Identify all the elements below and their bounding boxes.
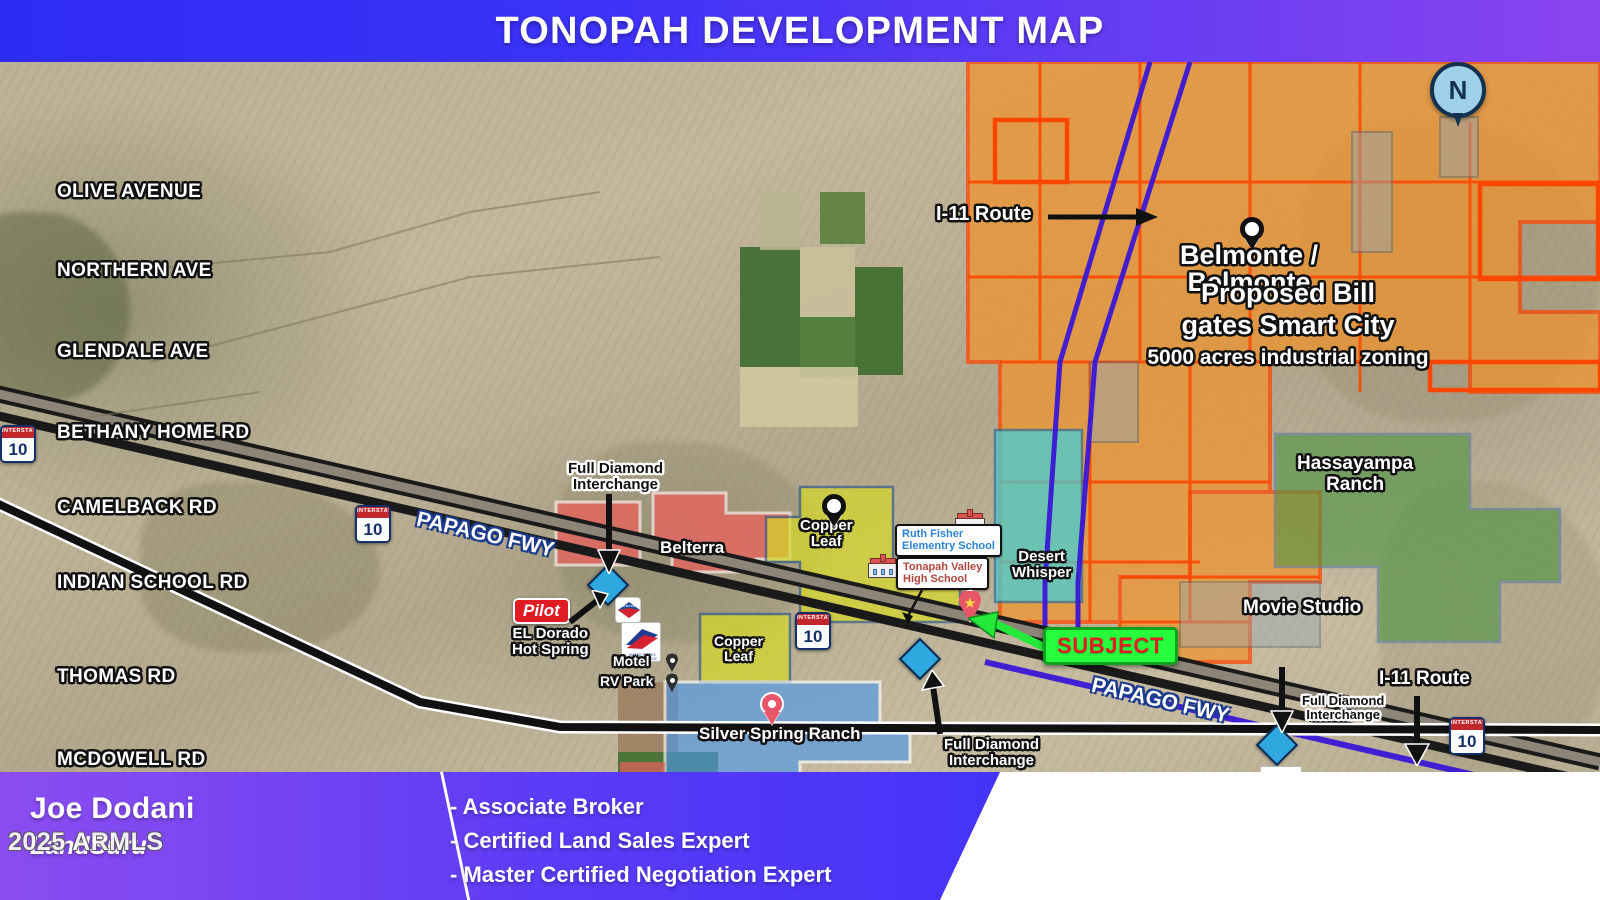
annotation-el-dorado-hot-spring: EL Dorado Hot Spring [512, 626, 589, 658]
logo-pilot: Pilot [513, 598, 570, 624]
arrow-subject [968, 610, 1053, 658]
parcel-label-belterra: Belterra [660, 539, 724, 557]
shield-interstate-text: INTERSTATE [1451, 720, 1483, 726]
vegetation-patch [1300, 122, 1600, 422]
farm-field [855, 267, 903, 375]
agent-name-block: Joe Dodani LandSuru [30, 792, 390, 861]
street-label: GLENDALE AVE [57, 342, 209, 363]
farm-field [820, 192, 865, 244]
smart-city-line1: Proposed Bill [1108, 279, 1468, 308]
page-header: TONOPAH DEVELOPMENT MAP [0, 0, 1600, 62]
tonopah-development-map-page: TONOPAH DEVELOPMENT MAP [0, 0, 1600, 900]
arrow-i11-top [1048, 205, 1158, 229]
poi-label-motel: Motel [613, 654, 650, 669]
street-label: NORTHERN AVE [57, 261, 212, 282]
arrow-full-diamond-right [1268, 667, 1296, 733]
poi-label-rv-park: RV Park [600, 674, 653, 689]
page-footer: Joe Dodani LandSuru eXp REALTY R MLS EHO… [0, 772, 1600, 900]
logo-chevron: Chevron [615, 597, 641, 623]
parcel-label-copper-leaf-south: Copper Leaf [714, 634, 763, 664]
farm-field [740, 247, 800, 367]
compass-label: N [1449, 75, 1468, 106]
annotation-i11-route-right: I-11 Route [1379, 669, 1470, 690]
agent-subtitle: LandSuru [30, 832, 390, 861]
arrow-i11-right [1402, 696, 1432, 766]
freeway-label-papago-east: PAPAGO FWY [1089, 675, 1231, 729]
street-label: INDIAN SCHOOL RD [57, 573, 248, 594]
arrow-high-school [900, 590, 930, 626]
map-canvas[interactable]: OLIVE AVENUE NORTHERN AVE GLENDALE AVE B… [0, 62, 1600, 772]
farm-field [800, 247, 855, 317]
parcel-label-desert-whisper: Desert Whisper [1012, 549, 1071, 581]
shield-number: 10 [357, 518, 389, 541]
motel-pin-icon [665, 653, 679, 672]
street-label: OLIVE AVENUE [57, 182, 201, 203]
interstate-shield-i10: INTERSTATE 10 [1449, 717, 1485, 755]
subject-badge: SUBJECT [1043, 627, 1178, 665]
arrow-full-diamond-center [920, 670, 950, 736]
rv-park-pin-icon [665, 673, 679, 692]
parcel-label-hassayampa-ranch: Hassayampa Ranch [1297, 454, 1413, 495]
parcel-label-silver-spring-ranch: Silver Spring Ranch [699, 725, 861, 743]
farm-field [618, 682, 678, 752]
shield-number: 10 [2, 438, 34, 461]
street-label: THOMAS RD [57, 667, 176, 688]
school-icon-high [868, 554, 898, 578]
credentials-list: - Associate Broker - Certified Land Sale… [450, 794, 831, 896]
annotation-i11-route-top: I-11 Route [936, 204, 1032, 226]
street-label: MCDOWELL RD [57, 750, 206, 771]
farm-field [760, 192, 800, 250]
smart-city-line3: 5000 acres industrial zoning [1108, 347, 1468, 370]
shield-interstate-text: INTERSTATE [357, 508, 389, 514]
street-label: BETHANY HOME RD [57, 423, 250, 444]
smart-city-line2: gates Smart City [1108, 311, 1468, 340]
freeway-label-papago-west: PAPAGO FWY [414, 509, 556, 563]
interstate-shield-i10: INTERSTATE 10 [795, 612, 831, 650]
pin-copper-leaf [822, 494, 846, 527]
annotation-full-diamond-center: Full Diamond Interchange [944, 737, 1039, 769]
svg-text:Chevron: Chevron [621, 603, 636, 608]
interstate-shield-i10: INTERSTATE 10 [355, 505, 391, 543]
shield-interstate-text: INTERSTATE [2, 428, 34, 434]
shield-number: 10 [1451, 730, 1483, 753]
farm-field [618, 752, 718, 772]
interstate-shield-i10: INTERSTATE 10 [0, 425, 36, 463]
dirt-tracks [90, 192, 660, 417]
vegetation-patch [0, 212, 130, 402]
parcel-label-movie-studio: Movie Studio [1243, 598, 1361, 619]
annotation-full-diamond-left: Full Diamond Interchange [568, 461, 663, 493]
street-label: CAMELBACK RD [57, 498, 217, 519]
shield-number: 10 [797, 625, 829, 648]
smart-city-annotation: Proposed Bill gates Smart City 5000 acre… [1108, 279, 1468, 360]
school-label-ruth-fisher-elementary: Ruth Fisher Elementry School [895, 524, 1002, 557]
arrow-pilot-to-interchange [566, 590, 610, 626]
pin-silver-spring-ranch [760, 692, 784, 725]
school-label-tonapah-valley-high: Tonapah Valley High School [896, 557, 989, 590]
page-title: TONOPAH DEVELOPMENT MAP [496, 10, 1105, 53]
credential-item: - Certified Land Sales Expert [450, 828, 831, 854]
annotation-full-diamond-right: Full Diamond Interchange [1302, 694, 1384, 722]
farm-field [740, 367, 858, 427]
arrow-full-diamond-left [596, 494, 622, 574]
agent-name: Joe Dodani [30, 792, 390, 826]
compass-north-icon: N [1430, 62, 1486, 118]
credential-item: - Associate Broker [450, 794, 831, 820]
credential-item: - Master Certified Negotiation Expert [450, 862, 831, 888]
shield-interstate-text: INTERSTATE [797, 615, 829, 621]
